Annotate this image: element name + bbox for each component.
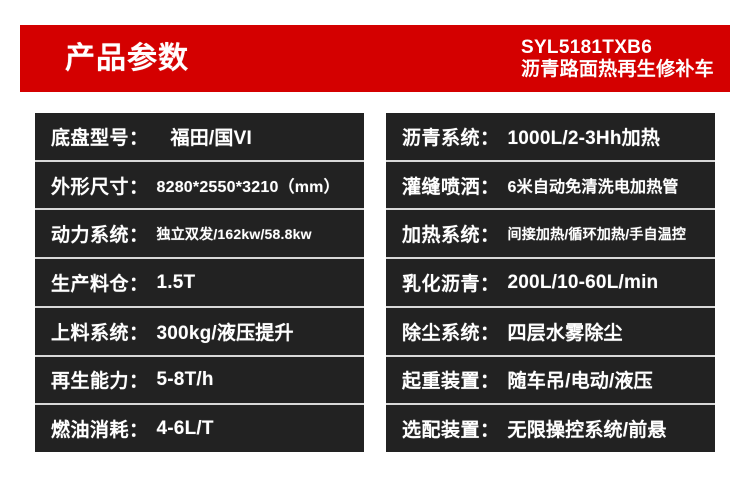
spec-value: 间接加热/循环加热/手自温控 xyxy=(508,224,687,244)
spec-value: 6米自动免清洗电加热管 xyxy=(508,173,679,197)
product-spec-page: 产品参数 SYL5181TXB6 沥青路面热再生修补车 底盘型号： 福田/国VI… xyxy=(0,0,750,482)
table-row: 除尘系统： 四层水雾除尘 xyxy=(386,308,715,357)
spec-value: 300kg/液压提升 xyxy=(157,318,294,345)
table-row: 灌缝喷洒： 6米自动免清洗电加热管 xyxy=(386,162,715,211)
table-row: 沥青系统： 1000L/2-3Hh加热 xyxy=(386,113,715,162)
spec-column-right: 沥青系统： 1000L/2-3Hh加热 灌缝喷洒： 6米自动免清洗电加热管 加热… xyxy=(386,113,715,452)
table-row: 加热系统： 间接加热/循环加热/手自温控 xyxy=(386,210,715,259)
spec-table: 底盘型号： 福田/国VI 外形尺寸： 8280*2550*3210（mm） 动力… xyxy=(35,113,715,452)
page-title: 产品参数 xyxy=(65,44,189,74)
spec-value: 8280*2550*3210（mm） xyxy=(157,173,340,197)
spec-label: 灌缝喷洒： xyxy=(402,172,500,199)
spec-label: 加热系统： xyxy=(402,220,500,247)
spec-label: 底盘型号： xyxy=(51,123,149,150)
spec-value: 无限操控系统/前悬 xyxy=(508,415,667,442)
table-row: 外形尺寸： 8280*2550*3210（mm） xyxy=(35,162,364,211)
spec-value: 1.5T xyxy=(157,272,196,294)
table-row: 动力系统： 独立双发/162kw/58.8kw xyxy=(35,210,364,259)
table-row: 底盘型号： 福田/国VI xyxy=(35,113,364,162)
spec-value: 5-8T/h xyxy=(157,369,214,391)
spec-value: 1000L/2-3Hh加热 xyxy=(508,123,661,150)
spec-label: 动力系统： xyxy=(51,220,149,247)
spec-label: 起重装置： xyxy=(402,366,500,393)
model-description: 沥青路面热再生修补车 xyxy=(521,59,714,80)
spec-value: 四层水雾除尘 xyxy=(508,318,623,345)
table-row: 生产料仓： 1.5T xyxy=(35,259,364,308)
spec-label: 沥青系统： xyxy=(402,123,500,150)
spec-value: 福田/国VI xyxy=(171,123,252,150)
table-row: 选配装置： 无限操控系统/前悬 xyxy=(386,405,715,452)
spec-label: 上料系统： xyxy=(51,318,149,345)
table-row: 再生能力： 5-8T/h xyxy=(35,357,364,406)
table-row: 起重装置： 随车吊/电动/液压 xyxy=(386,357,715,406)
spec-value: 200L/10-60L/min xyxy=(508,272,659,294)
spec-label: 选配装置： xyxy=(402,415,500,442)
spec-label: 生产料仓： xyxy=(51,269,149,296)
model-code: SYL5181TXB6 xyxy=(521,37,714,58)
spec-label: 乳化沥青： xyxy=(402,269,500,296)
table-row: 上料系统： 300kg/液压提升 xyxy=(35,308,364,357)
spec-label: 再生能力： xyxy=(51,366,149,393)
model-info-group: SYL5181TXB6 沥青路面热再生修补车 xyxy=(521,37,714,80)
table-row: 乳化沥青： 200L/10-60L/min xyxy=(386,259,715,308)
product-parameters-banner: 产品参数 SYL5181TXB6 沥青路面热再生修补车 xyxy=(20,25,730,92)
spec-label: 燃油消耗： xyxy=(51,415,149,442)
spec-value: 随车吊/电动/液压 xyxy=(508,366,653,393)
spec-label: 外形尺寸： xyxy=(51,172,149,199)
table-row: 燃油消耗： 4-6L/T xyxy=(35,405,364,452)
spec-value: 独立双发/162kw/58.8kw xyxy=(157,224,312,244)
spec-value: 4-6L/T xyxy=(157,418,214,440)
spec-column-left: 底盘型号： 福田/国VI 外形尺寸： 8280*2550*3210（mm） 动力… xyxy=(35,113,364,452)
spec-label: 除尘系统： xyxy=(402,318,500,345)
